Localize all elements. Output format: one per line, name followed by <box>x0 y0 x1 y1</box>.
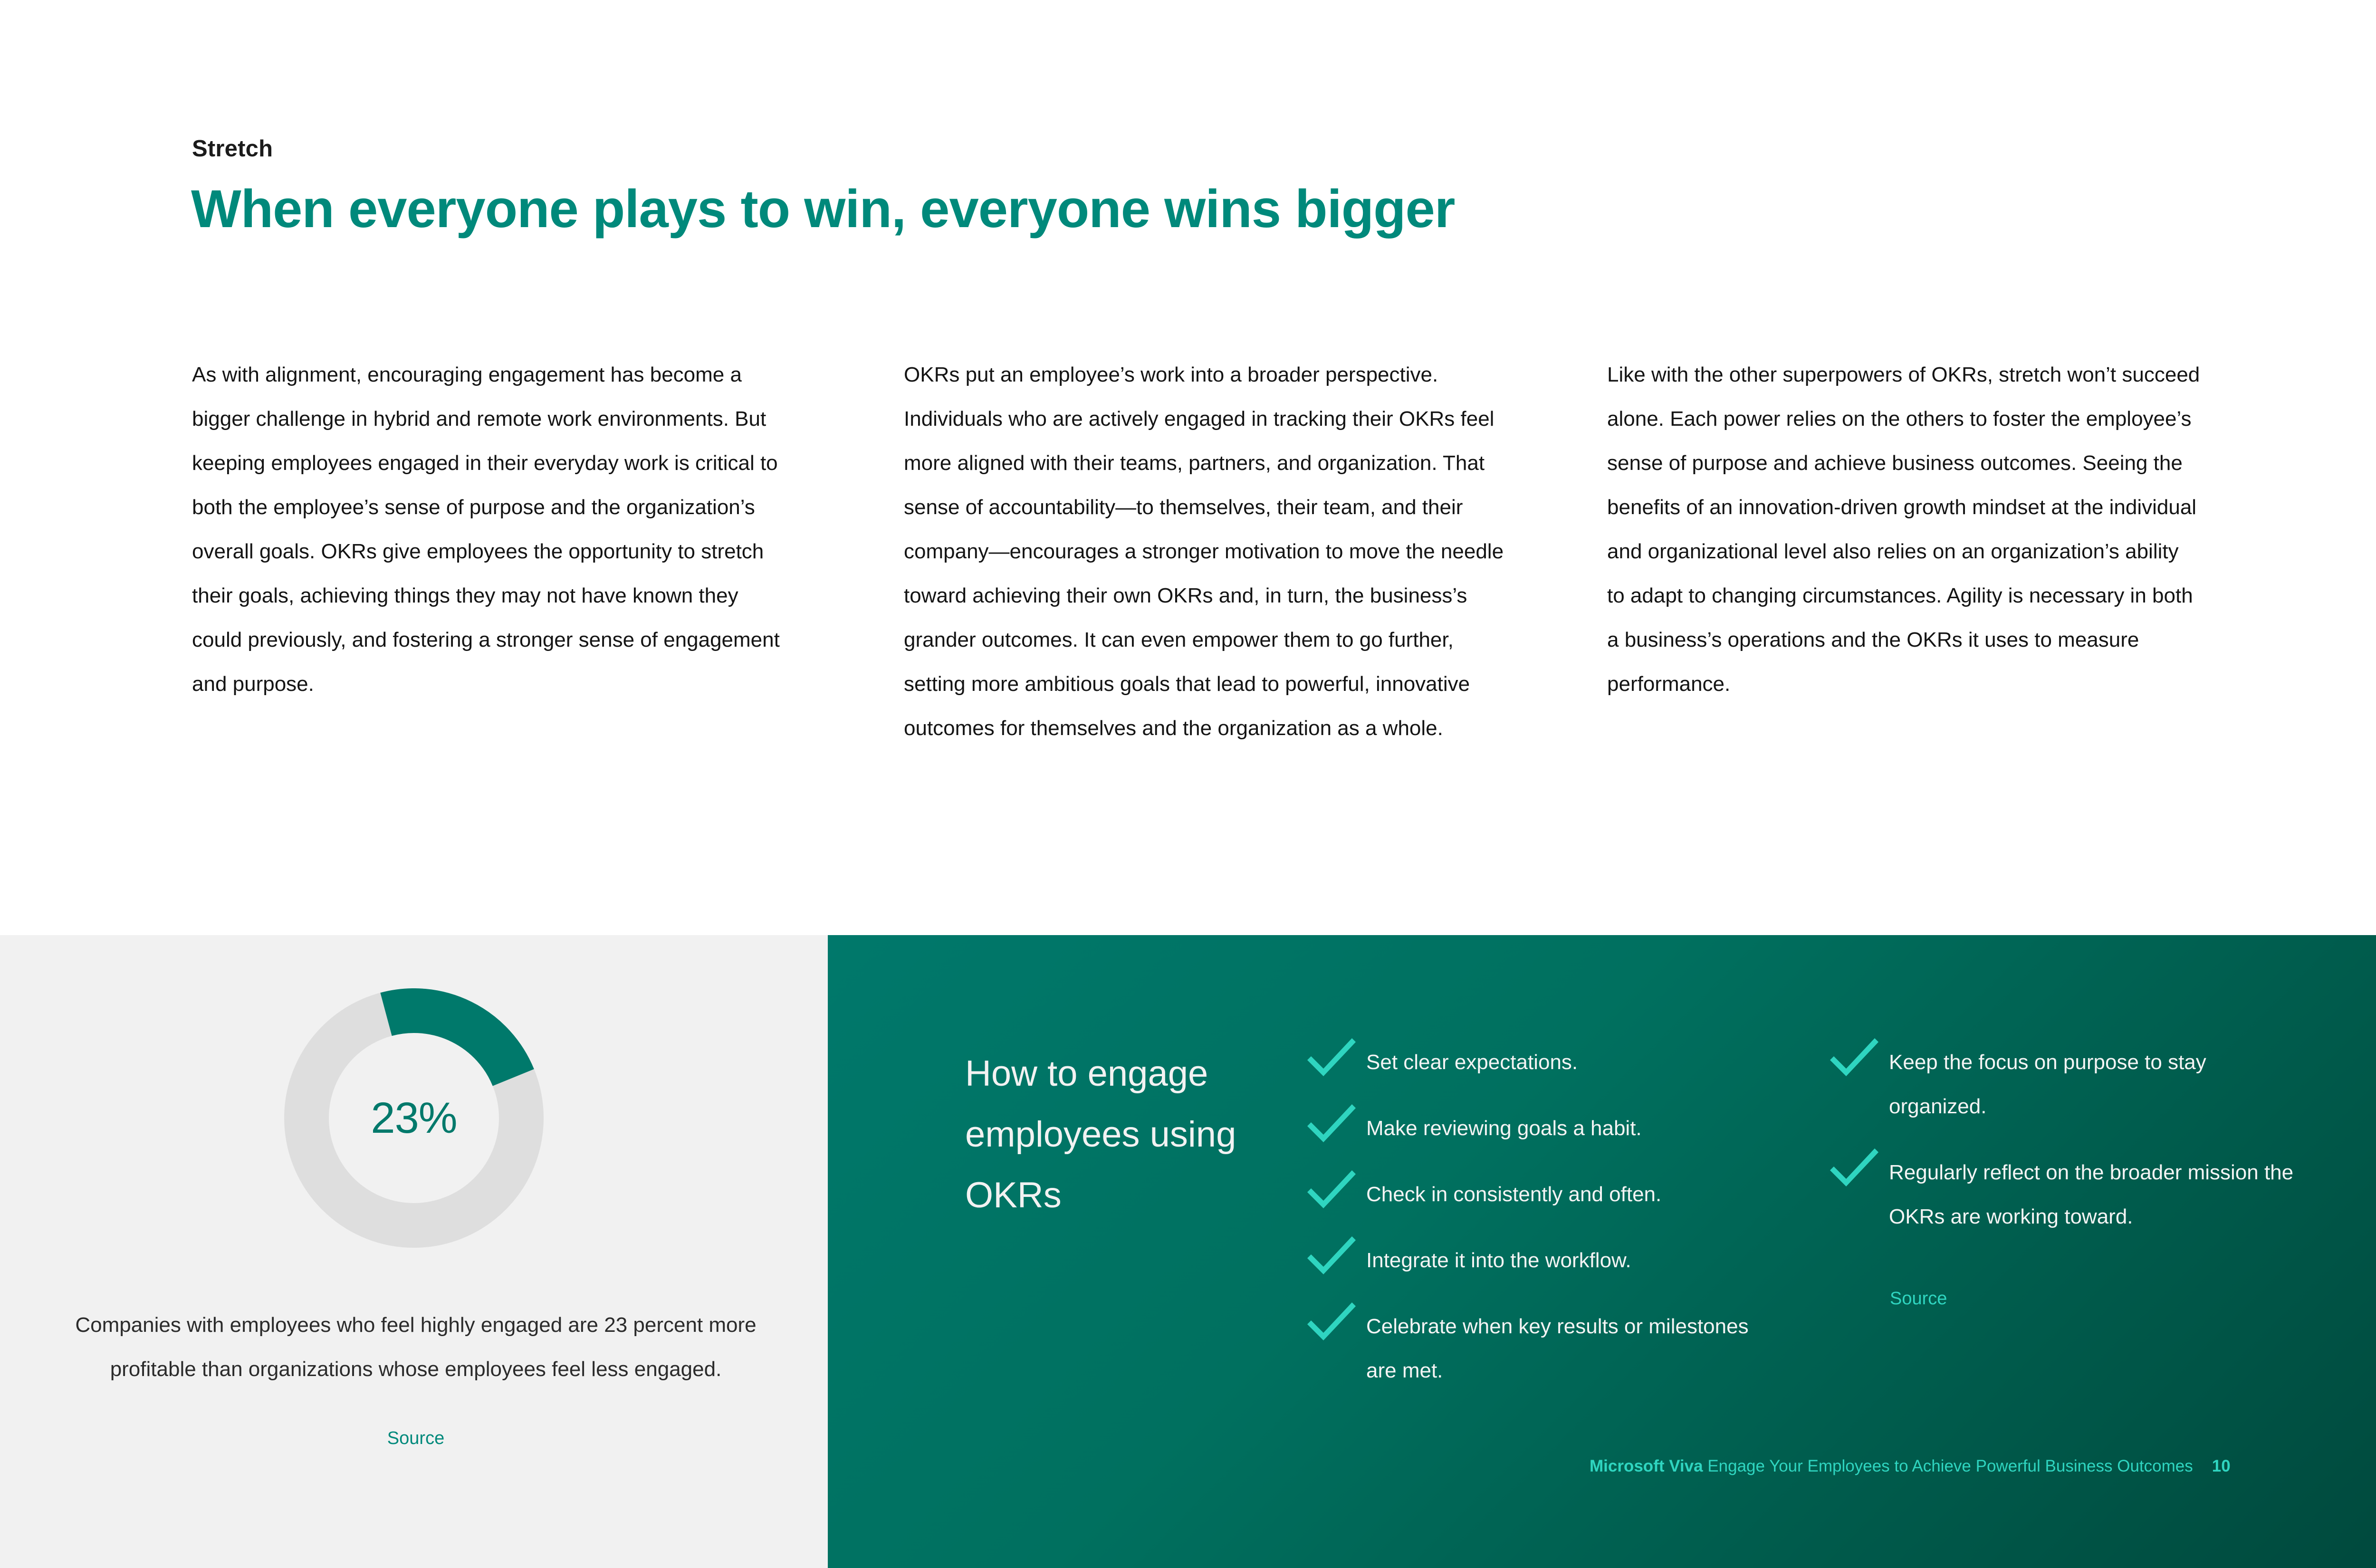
body-paragraph: Like with the other superpowers of OKRs,… <box>1607 353 2201 706</box>
page-eyebrow: Stretch <box>192 135 273 162</box>
checklist-column-b: Keep the focus on purpose to stay organi… <box>1827 1038 2298 1239</box>
check-icon <box>1827 1146 1880 1191</box>
donut-center-label: 23% <box>284 988 544 1248</box>
checklist-item: Integrate it into the workflow. <box>1304 1236 1784 1282</box>
stat-source-link[interactable]: Source <box>71 1428 760 1449</box>
panel-title: How to engage employees using OKRs <box>965 1043 1250 1226</box>
check-icon <box>1827 1035 1880 1081</box>
check-icon <box>1304 1300 1358 1345</box>
check-icon <box>1304 1233 1358 1279</box>
checklist-item-label: Regularly reflect on the broader mission… <box>1889 1148 2298 1239</box>
body-paragraph: OKRs put an employee’s work into a broad… <box>904 353 1517 750</box>
checklist-item: Celebrate when key results or milestones… <box>1304 1302 1784 1393</box>
check-icon <box>1304 1167 1358 1213</box>
checklist-item-label: Celebrate when key results or milestones… <box>1366 1302 1784 1393</box>
body-column-1: As with alignment, encouraging engagemen… <box>192 353 786 706</box>
check-icon <box>1304 1101 1358 1147</box>
checklist-item: Regularly reflect on the broader mission… <box>1827 1148 2298 1239</box>
checklist-column-a: Set clear expectations.Make reviewing go… <box>1304 1038 1784 1393</box>
checklist-item-label: Set clear expectations. <box>1366 1038 1578 1084</box>
donut-chart: 23% <box>284 988 544 1248</box>
checklist-item: Keep the focus on purpose to stay organi… <box>1827 1038 2298 1128</box>
footer-doc-title: Engage Your Employees to Achieve Powerfu… <box>1703 1457 2193 1475</box>
checklist-item-label: Keep the focus on purpose to stay organi… <box>1889 1038 2298 1128</box>
checklist-item: Make reviewing goals a habit. <box>1304 1104 1784 1150</box>
body-column-3: Like with the other superpowers of OKRs,… <box>1607 353 2201 706</box>
checklist-item: Check in consistently and often. <box>1304 1170 1784 1216</box>
checklist-item-label: Check in consistently and often. <box>1366 1170 1661 1216</box>
body-column-2: OKRs put an employee’s work into a broad… <box>904 353 1517 750</box>
slide-page: Stretch When everyone plays to win, ever… <box>0 0 2376 1568</box>
page-title: When everyone plays to win, everyone win… <box>191 178 1455 239</box>
stat-caption: Companies with employees who feel highly… <box>71 1303 760 1391</box>
panel-source-link[interactable]: Source <box>1890 1289 1947 1309</box>
footer-page-number: 10 <box>2212 1457 2231 1475</box>
checklist-item-label: Make reviewing goals a habit. <box>1366 1104 1642 1150</box>
page-footer: Microsoft Viva Engage Your Employees to … <box>1590 1457 2231 1476</box>
check-icon <box>1304 1035 1358 1081</box>
checklist-item: Set clear expectations. <box>1304 1038 1784 1084</box>
checklist-item-label: Integrate it into the workflow. <box>1366 1236 1631 1282</box>
footer-brand: Microsoft Viva <box>1590 1457 1703 1475</box>
body-paragraph: As with alignment, encouraging engagemen… <box>192 353 786 706</box>
